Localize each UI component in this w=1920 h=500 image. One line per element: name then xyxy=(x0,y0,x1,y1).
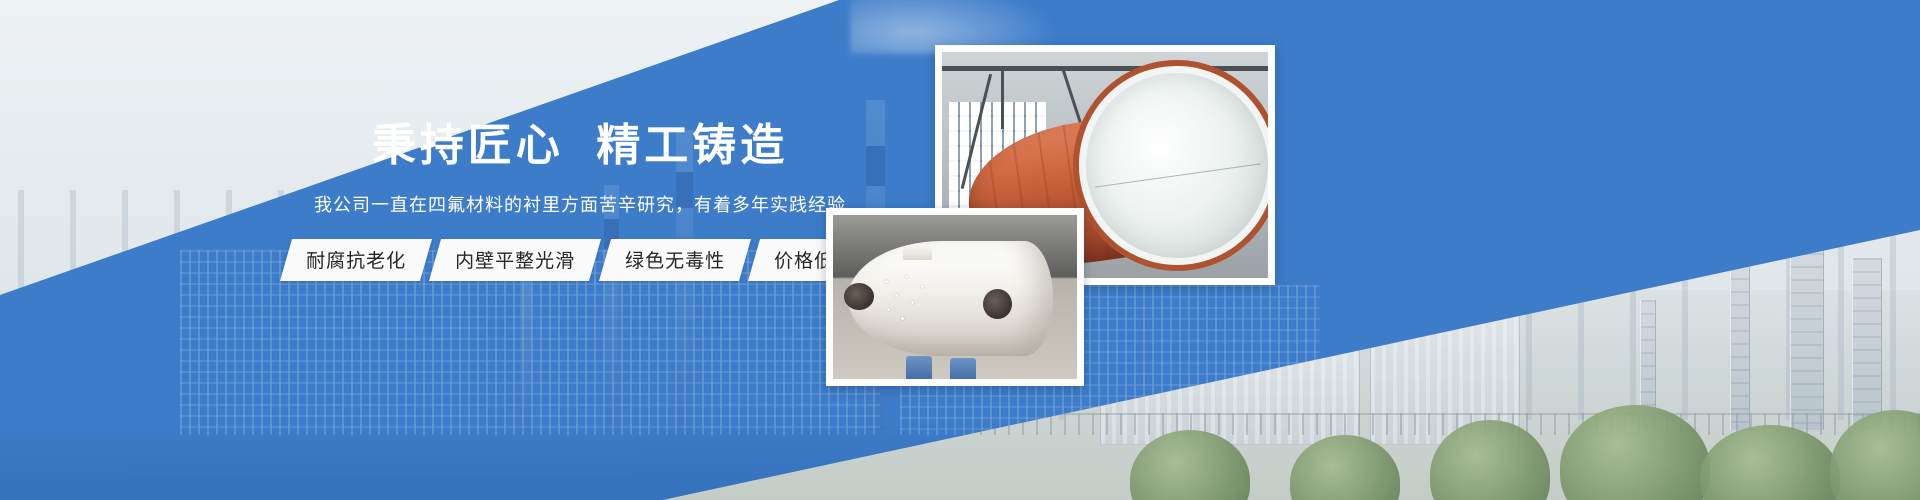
feature-tag-list: 耐腐抗老化 内壁平整光滑 绿色无毒性 价格低廉 xyxy=(300,239,860,281)
tank-saddle-left xyxy=(906,356,932,379)
white-tank-body xyxy=(848,241,1053,356)
page-title: 秉持匠心 精工铸造 xyxy=(300,120,860,173)
tank-bolt xyxy=(901,317,904,320)
crane-cable xyxy=(1001,70,1004,129)
tank-bolt xyxy=(905,275,908,278)
tank-bolt xyxy=(887,308,890,311)
tank-nozzle-left xyxy=(844,283,875,311)
tank-bolt xyxy=(895,294,898,297)
feature-tag-3-label: 绿色无毒性 xyxy=(625,246,725,273)
feature-tag-1-label: 耐腐抗老化 xyxy=(307,246,407,273)
tank-saddle-right xyxy=(950,358,976,379)
tank-bolt xyxy=(911,301,914,304)
background-tower xyxy=(1852,258,1882,430)
feature-tag-1[interactable]: 耐腐抗老化 xyxy=(280,239,432,281)
promo-banner: 秉持匠心 精工铸造 我公司一直在四氟材料的衬里方面苦辛研究，有着多年实践经验 耐… xyxy=(0,0,1920,500)
feature-tag-2-label: 内壁平整光滑 xyxy=(456,246,576,273)
crane-beam xyxy=(942,66,1268,71)
tank-bolt xyxy=(921,285,924,288)
feature-tag-3[interactable]: 绿色无毒性 xyxy=(598,239,750,281)
banner-subtitle: 我公司一直在四氟材料的衬里方面苦辛研究，有着多年实践经验 xyxy=(300,191,860,217)
banner-copy: 秉持匠心 精工铸造 我公司一直在四氟材料的衬里方面苦辛研究，有着多年实践经验 耐… xyxy=(300,120,860,281)
tank-neck xyxy=(903,244,932,260)
tank-bolt xyxy=(885,280,888,283)
product-photo-storage-tank-image xyxy=(833,215,1077,379)
background-tower xyxy=(1790,240,1824,430)
feature-tag-2[interactable]: 内壁平整光滑 xyxy=(429,239,601,281)
tank-nozzle-right xyxy=(983,289,1012,319)
product-photo-storage-tank[interactable] xyxy=(826,208,1084,386)
lining-seam xyxy=(1095,163,1261,187)
background-tower xyxy=(1730,265,1750,430)
